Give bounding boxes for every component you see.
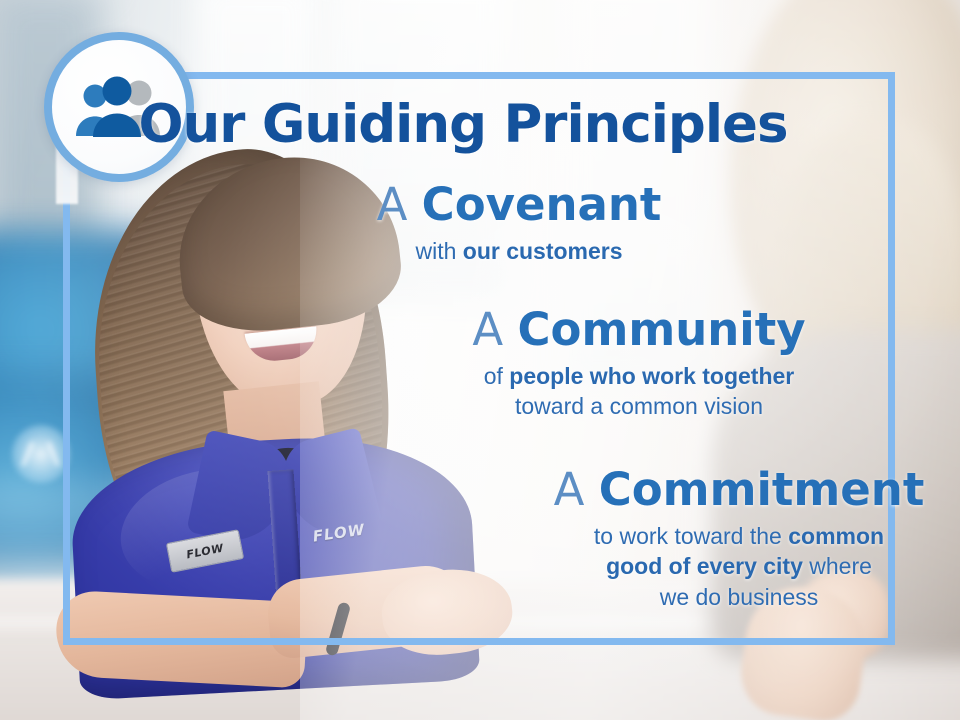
principle-community: A Community of people who work together … — [63, 307, 960, 422]
subtitle-segment: of — [484, 363, 510, 389]
principle-subtitle: with our customers — [103, 236, 935, 266]
principle-title: A Community — [223, 307, 960, 354]
subtitle-segment-bold: common — [788, 523, 884, 549]
subtitle-line: to work toward the common — [323, 521, 960, 552]
subtitle-segment-bold: our customers — [463, 238, 623, 264]
principle-commitment: A Commitment to work toward the common g… — [63, 467, 960, 613]
subtitle-segment: toward a common vision — [515, 393, 763, 419]
subtitle-line: of people who work together — [223, 361, 960, 391]
subtitle-line: with our customers — [103, 236, 935, 266]
banner-graphic: FLOW FLOW Our Guidin — [0, 0, 960, 720]
subtitle-segment: where — [803, 553, 872, 579]
principle-keyword: Covenant — [422, 178, 662, 231]
subtitle-segment-bold: good of every city — [606, 553, 803, 579]
principle-title: A Commitment — [323, 467, 960, 514]
principle-subtitle: of people who work together toward a com… — [223, 361, 960, 422]
subtitle-segment: to work toward the — [594, 523, 788, 549]
subtitle-segment-bold: people who work together — [509, 363, 794, 389]
subtitle-segment: we do business — [660, 584, 819, 610]
principle-keyword: Community — [518, 303, 806, 356]
principle-keyword: Commitment — [599, 463, 925, 516]
principle-title: A Covenant — [103, 182, 935, 229]
subtitle-line: toward a common vision — [223, 391, 960, 421]
principle-subtitle: to work toward the common good of every … — [323, 521, 960, 613]
principle-article: A — [377, 178, 408, 231]
text-content: Our Guiding Principles A Covenant with o… — [63, 72, 895, 645]
subtitle-segment: with — [415, 238, 462, 264]
principle-covenant: A Covenant with our customers — [63, 182, 935, 266]
principle-article: A — [554, 463, 585, 516]
subtitle-line: good of every city where — [323, 551, 960, 582]
subtitle-line: we do business — [323, 582, 960, 613]
principle-article: A — [472, 303, 503, 356]
page-title: Our Guiding Principles — [63, 94, 863, 155]
blurred-vehicle-emblem — [12, 425, 70, 483]
